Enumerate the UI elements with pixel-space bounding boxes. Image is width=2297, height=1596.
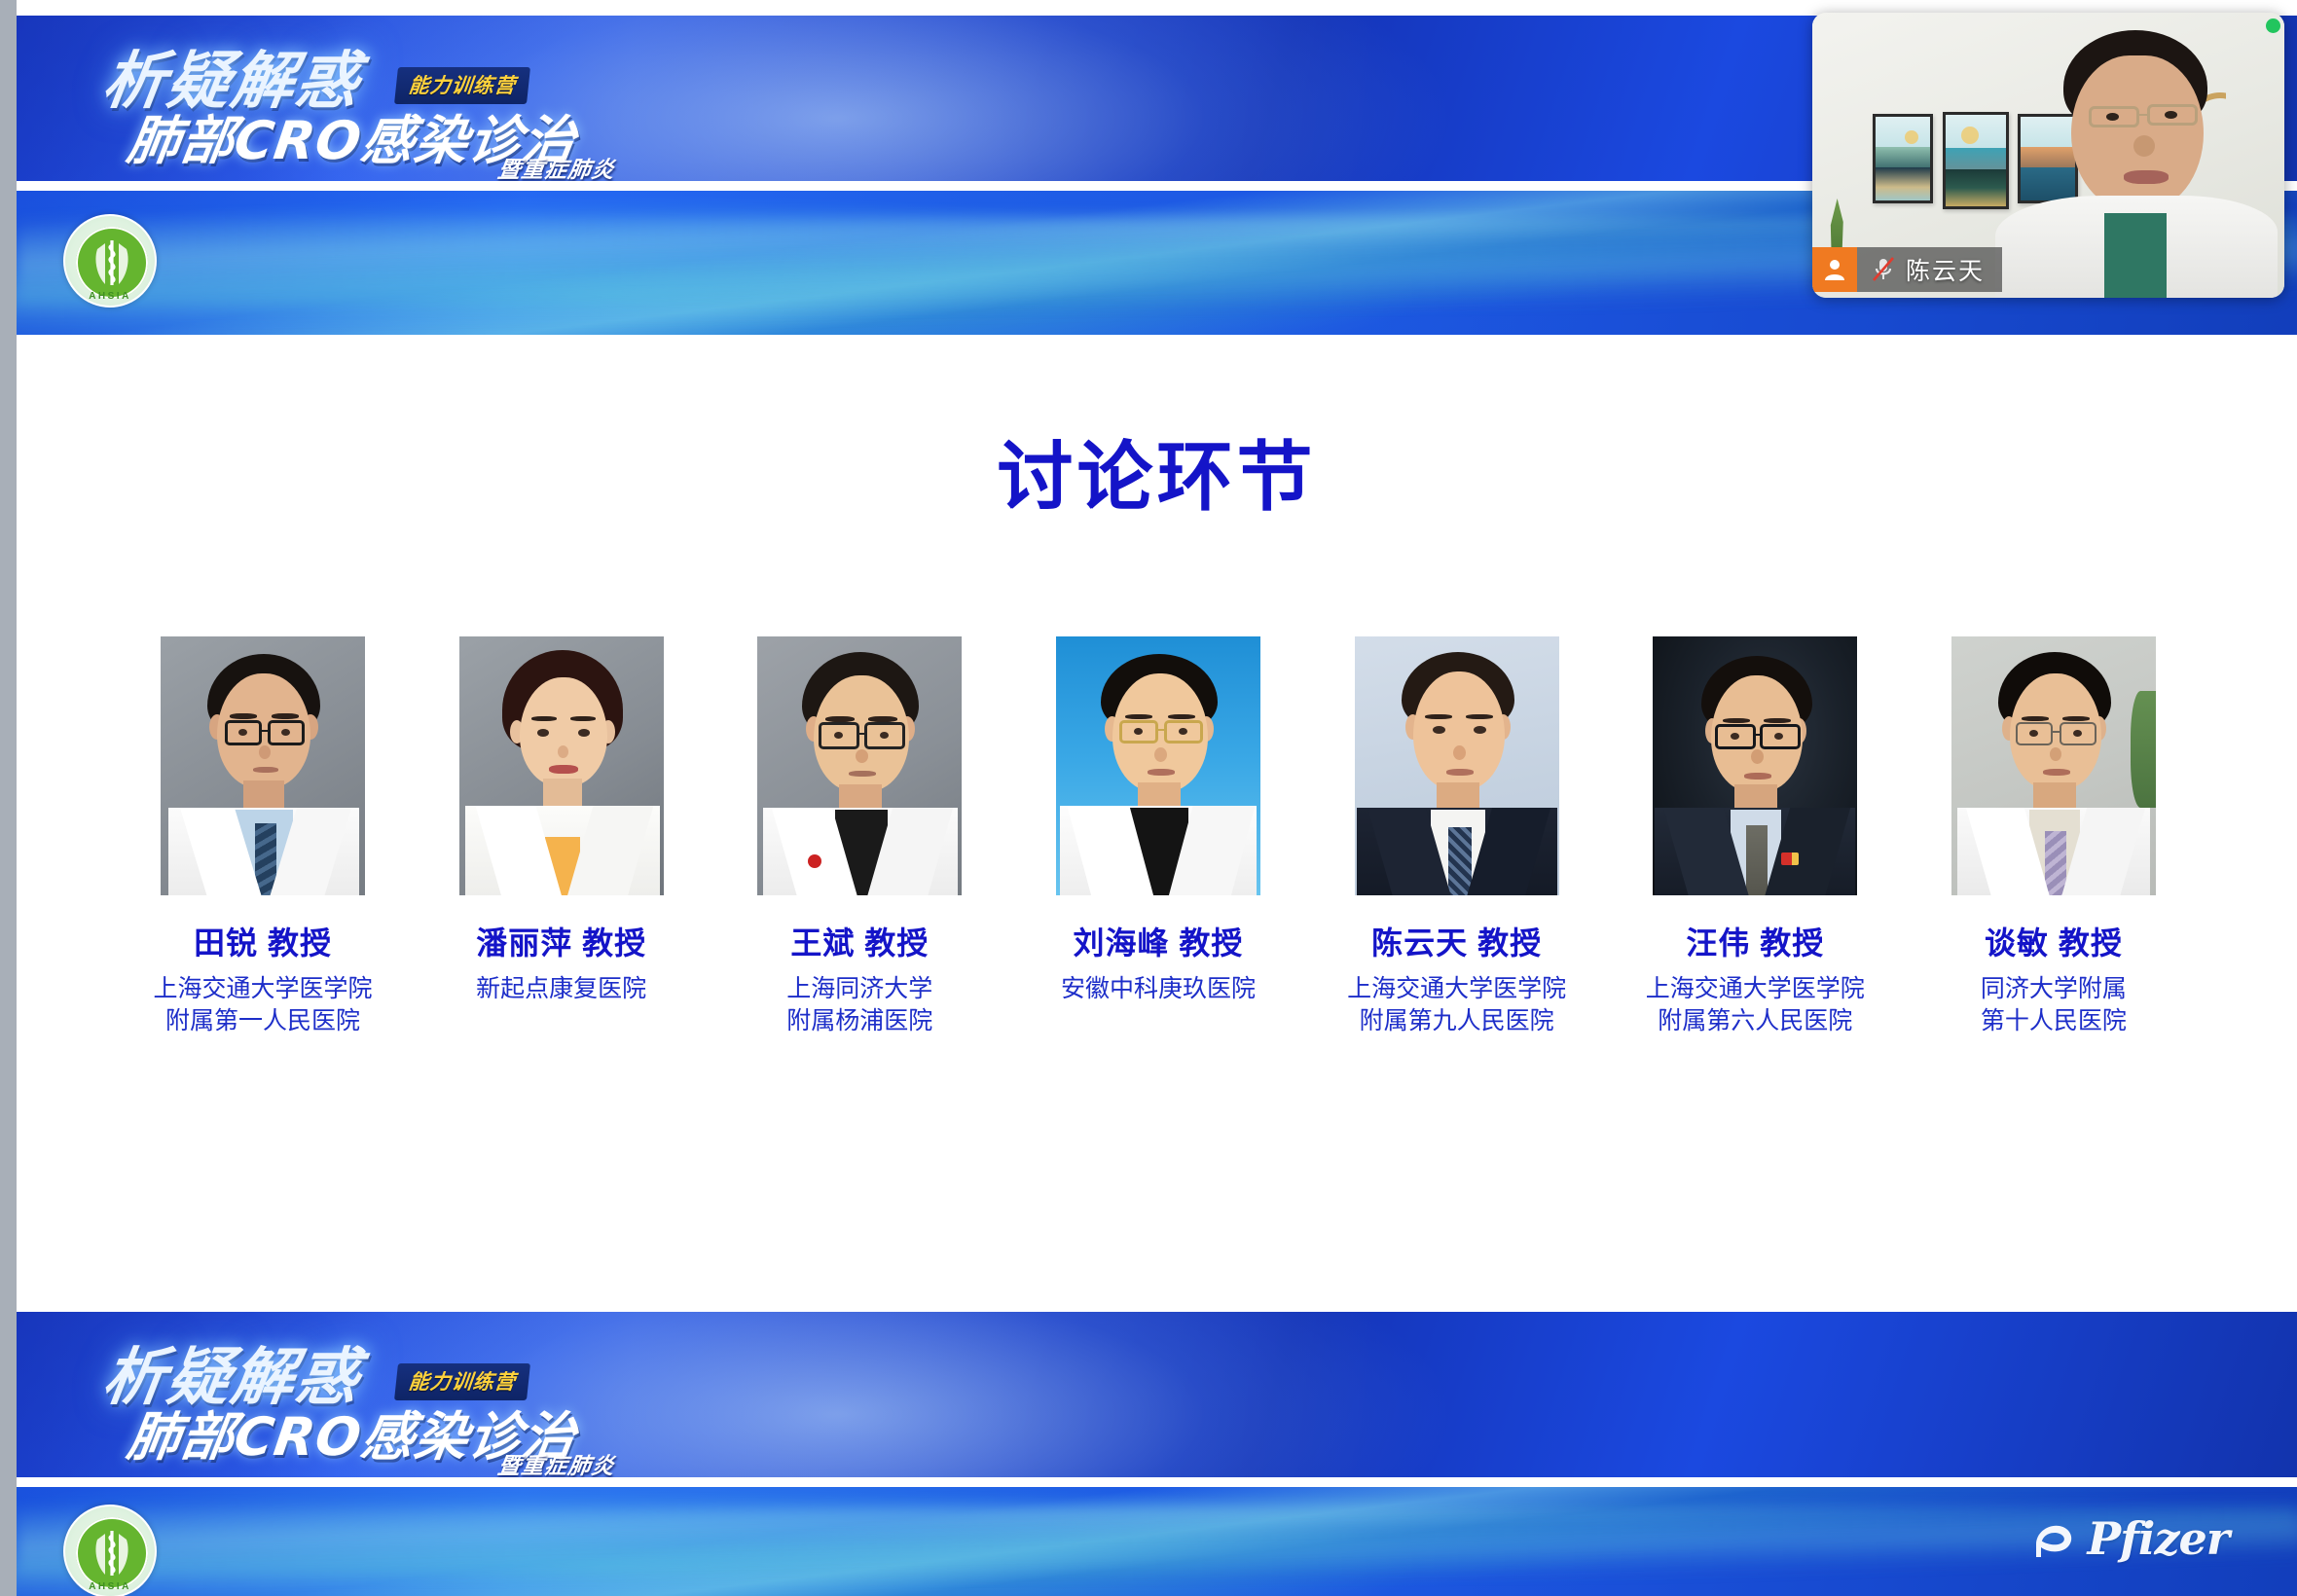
asclepius-rod-icon — [91, 1528, 132, 1578]
bottom-decor-band: AHSIA Pfizer — [17, 1487, 2297, 1596]
ahsia-association-logo: AHSIA — [63, 1505, 157, 1596]
speaker-card: 刘海峰 教授 安徽中科庚玖医院 — [1017, 636, 1299, 1005]
speaker-affiliation-line1: 上海同济大学 — [786, 973, 932, 1005]
speaker-card: 汪伟 教授 上海交通大学医学院 附属第六人民医院 — [1614, 636, 1896, 1037]
ahsia-association-logo: AHSIA — [63, 214, 157, 308]
pfizer-wordmark: Pfizer — [2088, 1512, 2229, 1565]
speaker-affiliation-line1: 上海交通大学医学院 — [1347, 973, 1566, 1005]
speaker-card: 谈敏 教授 同济大学附属 第十人民医院 — [1913, 636, 2195, 1037]
participant-face — [2071, 55, 2204, 211]
speaker-name: 田锐 教授 — [194, 919, 332, 963]
person-icon — [1812, 247, 1857, 292]
speaker-portrait — [1355, 636, 1559, 895]
speaker-affiliation-line1: 上海交通大学医学院 — [153, 973, 372, 1005]
asclepius-rod-icon — [91, 237, 132, 288]
speaker-affiliation: 新起点康复医院 — [476, 973, 646, 1005]
wall-art-1 — [1873, 114, 1933, 203]
speaker-affiliation: 上海同济大学 附属杨浦医院 — [786, 973, 932, 1037]
speaker-affiliation-line1: 同济大学附属 — [1981, 973, 2127, 1005]
screen: 析疑解惑 能力训练营 肺部CRO感染诊治 暨重症肺炎 — [0, 0, 2297, 1596]
speaker-name: 潘丽萍 教授 — [476, 919, 646, 963]
speaker-name: 谈敏 教授 — [1985, 919, 2123, 963]
speaker-name: 汪伟 教授 — [1686, 919, 1824, 963]
bottom-title-banner: 析疑解惑 能力训练营 肺部CRO感染诊治 暨重症肺炎 — [17, 1312, 2297, 1477]
speaker-portrait — [459, 636, 664, 895]
party-emblem-pin-icon — [1781, 852, 1799, 865]
slide-content-area: 讨论环节 — [17, 335, 2297, 1312]
speaker-name: 王斌 教授 — [790, 919, 929, 963]
event-logo-lockup: 析疑解惑 能力训练营 肺部CRO感染诊治 暨重症肺炎 — [75, 1318, 1048, 1473]
microphone-muted-icon[interactable] — [1871, 256, 1896, 283]
speaker-card: 王斌 教授 上海同济大学 附属杨浦医院 — [718, 636, 1001, 1037]
event-logo-lockup: 析疑解惑 能力训练营 肺部CRO感染诊治 暨重症肺炎 — [75, 21, 1048, 177]
speaker-portrait — [1951, 636, 2156, 895]
speaker-name: 陈云天 教授 — [1371, 919, 1542, 963]
speaker-affiliation-line1: 安徽中科庚玖医院 — [1061, 973, 1256, 1005]
speaker-affiliation-line2: 附属杨浦医院 — [786, 1005, 932, 1037]
speaker-affiliation: 上海交通大学医学院 附属第一人民医院 — [153, 973, 372, 1037]
ahsia-logo-disc — [76, 227, 148, 299]
participant-scrub-top — [2104, 213, 2167, 298]
speaker-affiliation-line2: 附属第九人民医院 — [1347, 1005, 1566, 1037]
speaker-portrait — [757, 636, 962, 895]
plant-decor — [2131, 691, 2156, 808]
wall-art-3 — [2018, 114, 2078, 203]
speaker-card: 潘丽萍 教授 新起点康复医院 — [420, 636, 703, 1005]
speaker-portrait — [1653, 636, 1857, 895]
pfizer-mark-icon — [2033, 1517, 2078, 1560]
speaker-affiliation-line1: 上海交通大学医学院 — [1646, 973, 1865, 1005]
speaker-affiliation: 上海交通大学医学院 附属第九人民医院 — [1347, 973, 1566, 1037]
wall-art-2 — [1943, 112, 2009, 209]
ahsia-logo-disc — [76, 1517, 148, 1589]
speaker-affiliation-line2: 附属第一人民医院 — [153, 1005, 372, 1037]
speaker-affiliation-line2: 附属第六人民医院 — [1646, 1005, 1865, 1037]
participant-glasses-bridge — [2139, 114, 2149, 116]
participant-name: 陈云天 — [1906, 252, 1985, 287]
active-status-indicator — [2264, 20, 2279, 35]
video-participant-tile[interactable]: 陈云天 — [1812, 13, 2284, 298]
speaker-affiliation: 安徽中科庚玖医院 — [1061, 973, 1256, 1005]
ahsia-logo-text: AHSIA — [65, 291, 155, 302]
ahsia-logo-text: AHSIA — [65, 1581, 155, 1592]
speaker-portrait — [1056, 636, 1260, 895]
speaker-portrait — [161, 636, 365, 895]
speaker-affiliation: 同济大学附属 第十人民医院 — [1981, 973, 2127, 1037]
speaker-name: 刘海峰 教授 — [1074, 919, 1244, 963]
participant-nose — [2133, 135, 2155, 157]
speaker-affiliation: 上海交通大学医学院 附属第六人民医院 — [1646, 973, 1865, 1037]
speaker-affiliation-line1: 新起点康复医院 — [476, 973, 646, 1005]
speaker-list: 田锐 教授 上海交通大学医学院 附属第一人民医院 — [122, 636, 2195, 1037]
speaker-card: 陈云天 教授 上海交通大学医学院 附属第九人民医院 — [1316, 636, 1598, 1037]
participant-mouth — [2124, 170, 2169, 184]
participant-eye-left — [2106, 113, 2119, 121]
speaker-affiliation-line2: 第十人民医院 — [1981, 1005, 2127, 1037]
pfizer-sponsor-logo: Pfizer — [2033, 1512, 2229, 1565]
participant-eye-right — [2165, 111, 2177, 119]
speaker-card: 田锐 教授 上海交通大学医学院 附属第一人民医院 — [122, 636, 404, 1037]
slide-title: 讨论环节 — [17, 417, 2297, 526]
participant-name-bar: 陈云天 — [1812, 247, 2002, 292]
event-title-tagline: 暨重症肺炎 — [496, 151, 618, 181]
event-title-tagline: 暨重症肺炎 — [496, 1447, 618, 1477]
